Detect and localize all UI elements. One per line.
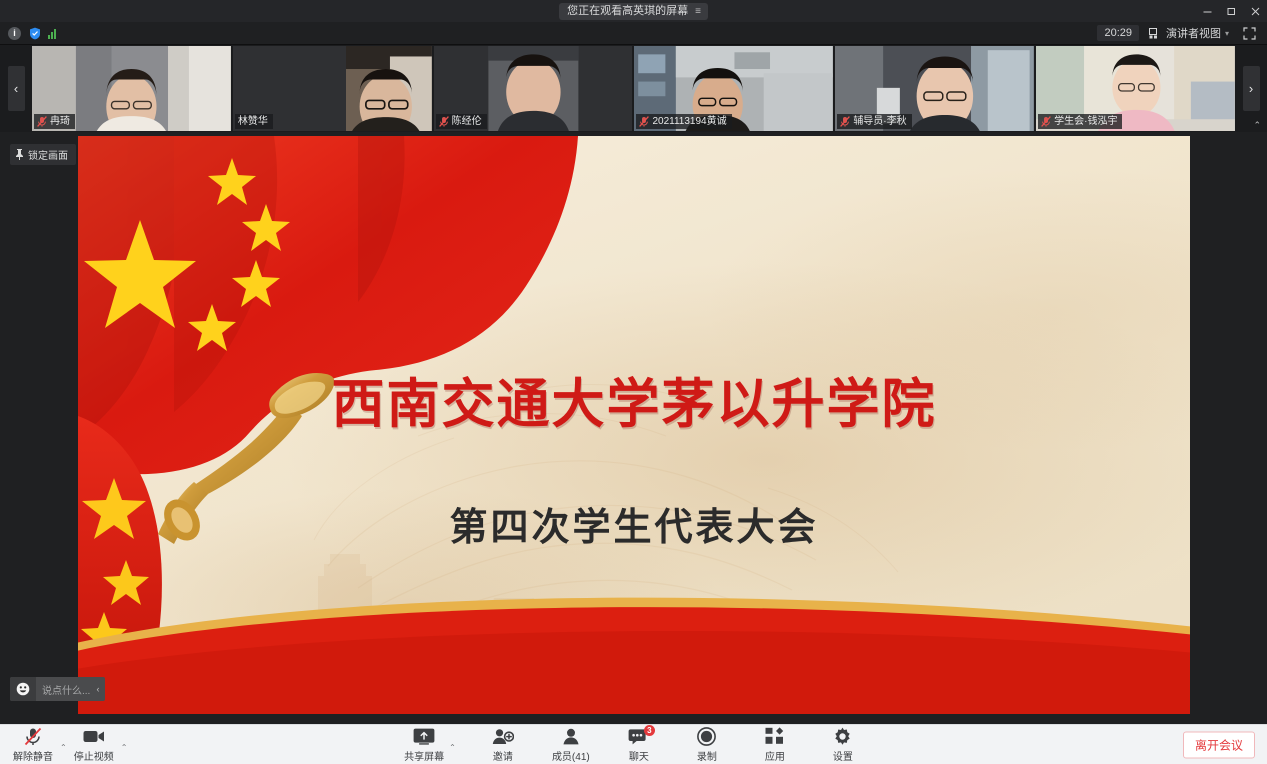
participant-name: 冉琦 <box>50 115 70 128</box>
mic-muted-icon <box>639 116 649 127</box>
participant-name-badge: 林赞华 <box>235 114 273 129</box>
participant-name-badge: 陈经伦 <box>436 114 487 129</box>
title-bar: 您正在观看高英琪的屏幕 ≡ <box>0 0 1267 22</box>
participant-name: 学生会·钱泓宇 <box>1054 115 1117 128</box>
emoji-icon[interactable] <box>10 677 36 701</box>
participant-name-badge: 辅导员·李秋 <box>837 114 911 129</box>
strip-next-button[interactable]: › ⌃ <box>1235 45 1267 132</box>
speaker-view-icon <box>1149 28 1162 39</box>
participant-tile[interactable]: 2021113194黄诚 <box>634 46 833 131</box>
mic-muted-icon <box>439 116 449 127</box>
meeting-toolbar-right: 20:29 演讲者视图 ▾ <box>1097 23 1267 43</box>
record-label: 录制 <box>697 748 717 763</box>
stop-video-label: 停止视频 <box>74 748 114 763</box>
participant-tile[interactable]: 辅导员·李秋 <box>835 46 1034 131</box>
info-icon[interactable]: i <box>8 27 21 40</box>
share-screen-button[interactable]: 共享屏幕 <box>401 726 447 763</box>
share-screen-label: 共享屏幕 <box>404 748 444 763</box>
participants-label: 成员(41) <box>552 748 590 763</box>
unmute-label: 解除静音 <box>13 748 53 763</box>
meeting-clock: 20:29 <box>1097 25 1139 41</box>
participants-icon <box>561 726 581 746</box>
chevron-left-icon[interactable]: ‹ <box>91 677 105 701</box>
maximize-button[interactable] <box>1219 0 1243 22</box>
thumbnail-list: 冉琦 林赞华 <box>32 45 1235 132</box>
meeting-info-bar: i 20:29 演讲者视图 ▾ <box>0 22 1267 45</box>
invite-button[interactable]: 邀请 <box>480 726 526 763</box>
mic-muted-icon <box>37 116 47 127</box>
bottom-wave-graphic <box>78 583 1190 714</box>
stop-video-button[interactable]: 停止视频 <box>71 726 117 763</box>
unmute-button[interactable]: 解除静音 <box>10 726 56 763</box>
pin-screen-button[interactable]: 锁定画面 <box>10 144 76 165</box>
apps-button[interactable]: 应用 <box>752 726 798 763</box>
shield-icon[interactable] <box>28 27 41 40</box>
strip-prev-button[interactable]: ‹ <box>0 45 32 132</box>
participant-name: 辅导员·李秋 <box>853 115 906 128</box>
apps-label: 应用 <box>765 748 785 763</box>
shared-slide[interactable]: 西南交通大学茅以升学院 第四次学生代表大会 <box>78 136 1190 714</box>
participant-name: 2021113194黄诚 <box>652 115 726 128</box>
participant-name-badge: 学生会·钱泓宇 <box>1038 114 1122 129</box>
signal-icon[interactable] <box>48 28 56 39</box>
av-controls: 解除静音 ⌃ 停止视频 ⌃ <box>0 726 129 763</box>
fullscreen-button[interactable] <box>1239 25 1260 42</box>
camera-icon <box>83 726 105 746</box>
chat-label: 聊天 <box>629 748 649 763</box>
video-options-chevron[interactable]: ⌃ <box>121 743 128 763</box>
participant-tile[interactable]: 冉琦 <box>32 46 231 131</box>
view-mode-label: 演讲者视图 <box>1166 25 1221 41</box>
chat-input-placeholder[interactable]: 说点什么... <box>36 677 91 701</box>
strip-collapse-button[interactable]: ⌃ <box>1253 120 1261 131</box>
participant-tile[interactable]: 林赞华 <box>233 46 432 131</box>
meeting-controls-bar: 解除静音 ⌃ 停止视频 ⌃ <box>0 724 1267 764</box>
meeting-window: 您正在观看高英琪的屏幕 ≡ i 20:29 <box>0 0 1267 764</box>
participant-thumbnail-strip: ‹ <box>0 45 1267 132</box>
settings-icon <box>833 726 852 746</box>
participant-name: 林赞华 <box>238 115 268 128</box>
participant-tile[interactable]: 陈经伦 <box>434 46 633 131</box>
share-screen-icon <box>413 726 435 746</box>
pin-screen-label: 锁定画面 <box>28 147 68 162</box>
meeting-status-icons: i <box>0 27 56 40</box>
audio-options-chevron[interactable]: ⌃ <box>60 743 67 763</box>
participant-name: 陈经伦 <box>452 115 482 128</box>
chevron-left-icon: ‹ <box>14 81 18 96</box>
participant-name-badge: 2021113194黄诚 <box>636 114 731 129</box>
mic-muted-icon <box>840 116 850 127</box>
apps-icon <box>765 726 784 746</box>
window-controls <box>1195 0 1267 22</box>
chat-button[interactable]: 3 聊天 <box>616 726 662 763</box>
record-button[interactable]: 录制 <box>684 726 730 763</box>
chevron-down-icon: ▾ <box>1225 29 1229 38</box>
quick-chat-input[interactable]: 说点什么... ‹ <box>10 677 105 701</box>
settings-button[interactable]: 设置 <box>820 726 866 763</box>
mic-muted-icon <box>24 726 42 746</box>
leave-meeting-button[interactable]: 离开会议 <box>1183 731 1255 758</box>
shared-screen-stage: 锁定画面 <box>0 132 1267 724</box>
close-button[interactable] <box>1243 0 1267 22</box>
minimize-button[interactable] <box>1195 0 1219 22</box>
record-icon <box>697 726 716 746</box>
main-controls: 共享屏幕 ⌃ 邀请 <box>0 726 1267 763</box>
fullscreen-icon <box>1243 27 1256 40</box>
screen-share-notice[interactable]: 您正在观看高英琪的屏幕 ≡ <box>559 3 708 20</box>
invite-icon <box>492 726 514 746</box>
slide-subtitle: 第四次学生代表大会 <box>78 496 1190 551</box>
participants-button[interactable]: 成员(41) <box>548 726 594 763</box>
share-options-chevron[interactable]: ⌃ <box>449 743 456 763</box>
view-mode-selector[interactable]: 演讲者视图 ▾ <box>1143 23 1235 43</box>
pin-icon <box>15 149 24 160</box>
hamburger-icon[interactable]: ≡ <box>695 3 700 20</box>
chevron-right-icon: › <box>1249 81 1253 96</box>
participant-tile[interactable]: 学生会·钱泓宇 <box>1036 46 1235 131</box>
chat-unread-badge: 3 <box>644 725 655 736</box>
participant-name-badge: 冉琦 <box>34 114 75 129</box>
mic-muted-icon <box>1041 116 1051 127</box>
slide-title: 西南交通大学茅以升学院 <box>78 362 1190 438</box>
screen-share-notice-text: 您正在观看高英琪的屏幕 <box>567 3 688 20</box>
invite-label: 邀请 <box>493 748 513 763</box>
settings-label: 设置 <box>833 748 853 763</box>
